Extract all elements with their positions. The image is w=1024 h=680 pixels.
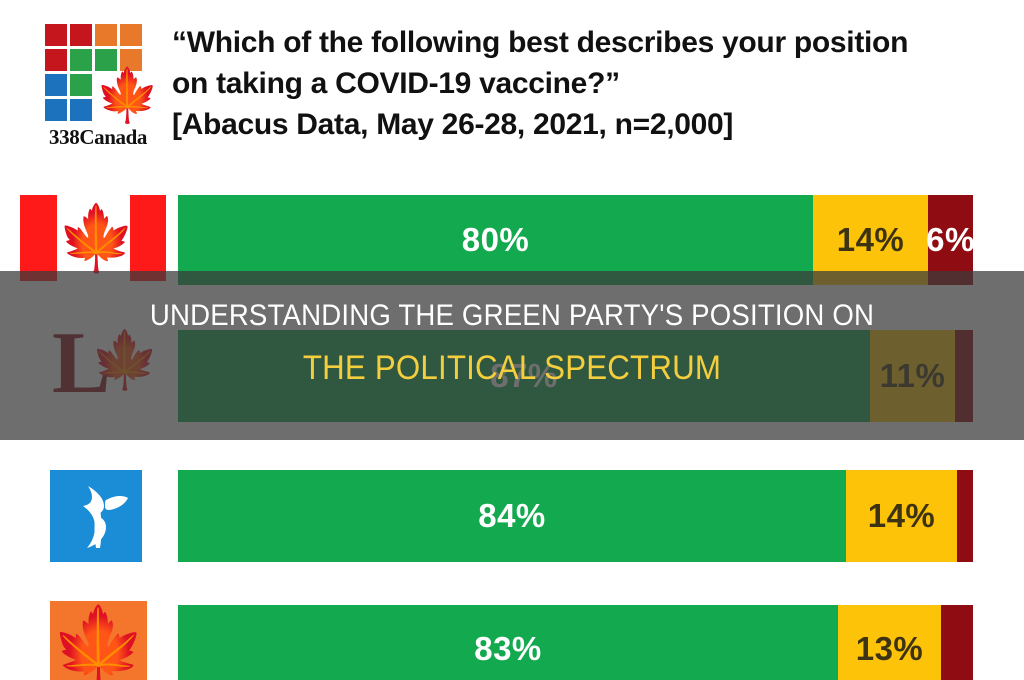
- segment-will-vaccinate: 84%: [178, 470, 846, 562]
- logo-square: [70, 74, 92, 96]
- logo-square: [45, 99, 67, 121]
- maple-leaf-icon: 🍁: [57, 195, 130, 281]
- segment-label: 13%: [856, 630, 924, 668]
- segment-unsure: 14%: [846, 470, 957, 562]
- logo-square: [70, 24, 92, 46]
- question-line-1: “Which of the following best describes y…: [172, 22, 1012, 63]
- segment-label: 14%: [837, 221, 905, 259]
- flag-band-left: [20, 195, 57, 281]
- overlay-headline-line-2: THE POLITICAL SPECTRUM: [41, 349, 983, 388]
- logo-square: [120, 24, 142, 46]
- segment-unsure: 13%: [838, 605, 941, 680]
- title-overlay-banner: UNDERSTANDING THE GREEN PARTY'S POSITION…: [0, 271, 1024, 440]
- chart-question-title: “Which of the following best describes y…: [172, 22, 1012, 145]
- chart-header: 🍁 338Canada “Which of the following best…: [0, 0, 1024, 180]
- bar-row-ndp: 🍁 83% 13%: [0, 601, 1024, 680]
- logo-square: [70, 99, 92, 121]
- segment-will-not-vaccinate: [957, 470, 973, 562]
- segment-label: 6%: [926, 221, 975, 259]
- chart-source-note: [Abacus Data, May 26-28, 2021, n=2,000]: [172, 104, 1012, 145]
- logo-square: [45, 74, 67, 96]
- overlay-headline-line-1: UNDERSTANDING THE GREEN PARTY'S POSITION…: [41, 299, 983, 333]
- question-line-2: on taking a COVID-19 vaccine?”: [172, 63, 1012, 104]
- logo-square: [95, 24, 117, 46]
- 338canada-logo: 🍁 338Canada: [33, 22, 163, 162]
- stacked-bar-bloc: 84% 14%: [178, 470, 973, 562]
- segment-label: 14%: [868, 497, 936, 535]
- maple-leaf-icon: 🍁: [50, 601, 147, 680]
- bar-row-bloc: 84% 14%: [0, 470, 1024, 562]
- infographic-canvas: 🍁 338Canada “Which of the following best…: [0, 0, 1024, 680]
- stacked-bar-ndp: 83% 13%: [178, 605, 973, 680]
- bloc-fleur-icon: [50, 470, 142, 562]
- segment-label: 84%: [478, 497, 546, 535]
- logo-square: [45, 24, 67, 46]
- ndp-logo: 🍁: [50, 601, 147, 680]
- canada-flag-icon: 🍁: [20, 195, 166, 281]
- segment-label: 80%: [462, 221, 530, 259]
- logo-square: [70, 49, 92, 71]
- segment-will-not-vaccinate: [941, 605, 973, 680]
- logo-square: [45, 49, 67, 71]
- logo-wordmark: 338Canada: [33, 125, 163, 150]
- bloc-quebecois-logo: [50, 470, 142, 562]
- maple-leaf-icon: 🍁: [95, 74, 141, 122]
- segment-will-vaccinate: 83%: [178, 605, 838, 680]
- segment-label: 83%: [474, 630, 542, 668]
